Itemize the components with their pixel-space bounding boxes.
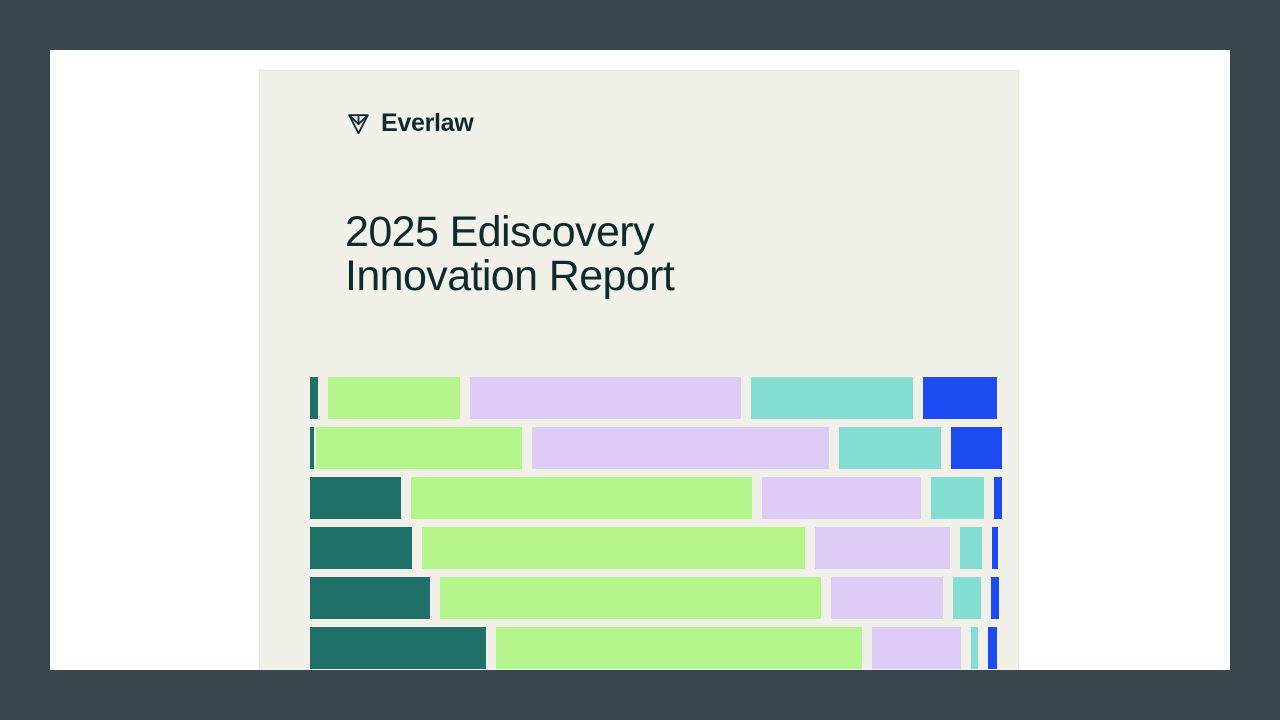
bar-segment: [310, 577, 430, 619]
bar-segment: [831, 577, 942, 619]
bar-segment: [532, 427, 829, 469]
brand-name: Everlaw: [381, 111, 473, 136]
bar-segment: [923, 377, 997, 419]
chart-bar-row: [260, 527, 1019, 569]
bar-segment: [316, 427, 522, 469]
bar-segment: [992, 527, 998, 569]
bar-segment: [953, 577, 981, 619]
bar-segment: [991, 577, 999, 619]
bar-segment: [422, 527, 805, 569]
bar-segment: [960, 527, 982, 569]
diamond-gem-icon: [345, 112, 372, 136]
stacked-bar-chart: [260, 377, 1019, 670]
bar-segment: [751, 377, 914, 419]
chart-bar-row: [260, 577, 1019, 619]
bar-segment: [470, 377, 740, 419]
bar-segment: [971, 627, 978, 669]
brand-lockup: Everlaw: [345, 111, 473, 136]
bar-segment: [839, 427, 941, 469]
document-viewer-panel: Everlaw 2025 Ediscovery Innovation Repor…: [50, 50, 1230, 670]
bar-segment: [994, 477, 1002, 519]
bar-segment: [310, 477, 401, 519]
bar-segment: [496, 627, 862, 669]
bar-segment: [310, 527, 412, 569]
bar-segment: [931, 477, 984, 519]
bar-segment: [988, 627, 997, 669]
screenshot-stage: Everlaw 2025 Ediscovery Innovation Repor…: [0, 0, 1280, 720]
bar-segment: [310, 427, 314, 469]
chart-bar-row: [260, 427, 1019, 469]
report-page: Everlaw 2025 Ediscovery Innovation Repor…: [259, 70, 1019, 670]
bar-segment: [440, 577, 821, 619]
page-title: 2025 Ediscovery Innovation Report: [345, 211, 965, 299]
bar-segment: [310, 627, 486, 669]
bar-segment: [815, 527, 951, 569]
bar-segment: [872, 627, 961, 669]
chart-bar-row: [260, 627, 1019, 669]
chart-bar-row: [260, 477, 1019, 519]
bar-segment: [310, 377, 318, 419]
chart-bar-row: [260, 377, 1019, 419]
bar-segment: [951, 427, 1002, 469]
bar-segment: [328, 377, 460, 419]
bar-segment: [411, 477, 752, 519]
bar-segment: [762, 477, 920, 519]
